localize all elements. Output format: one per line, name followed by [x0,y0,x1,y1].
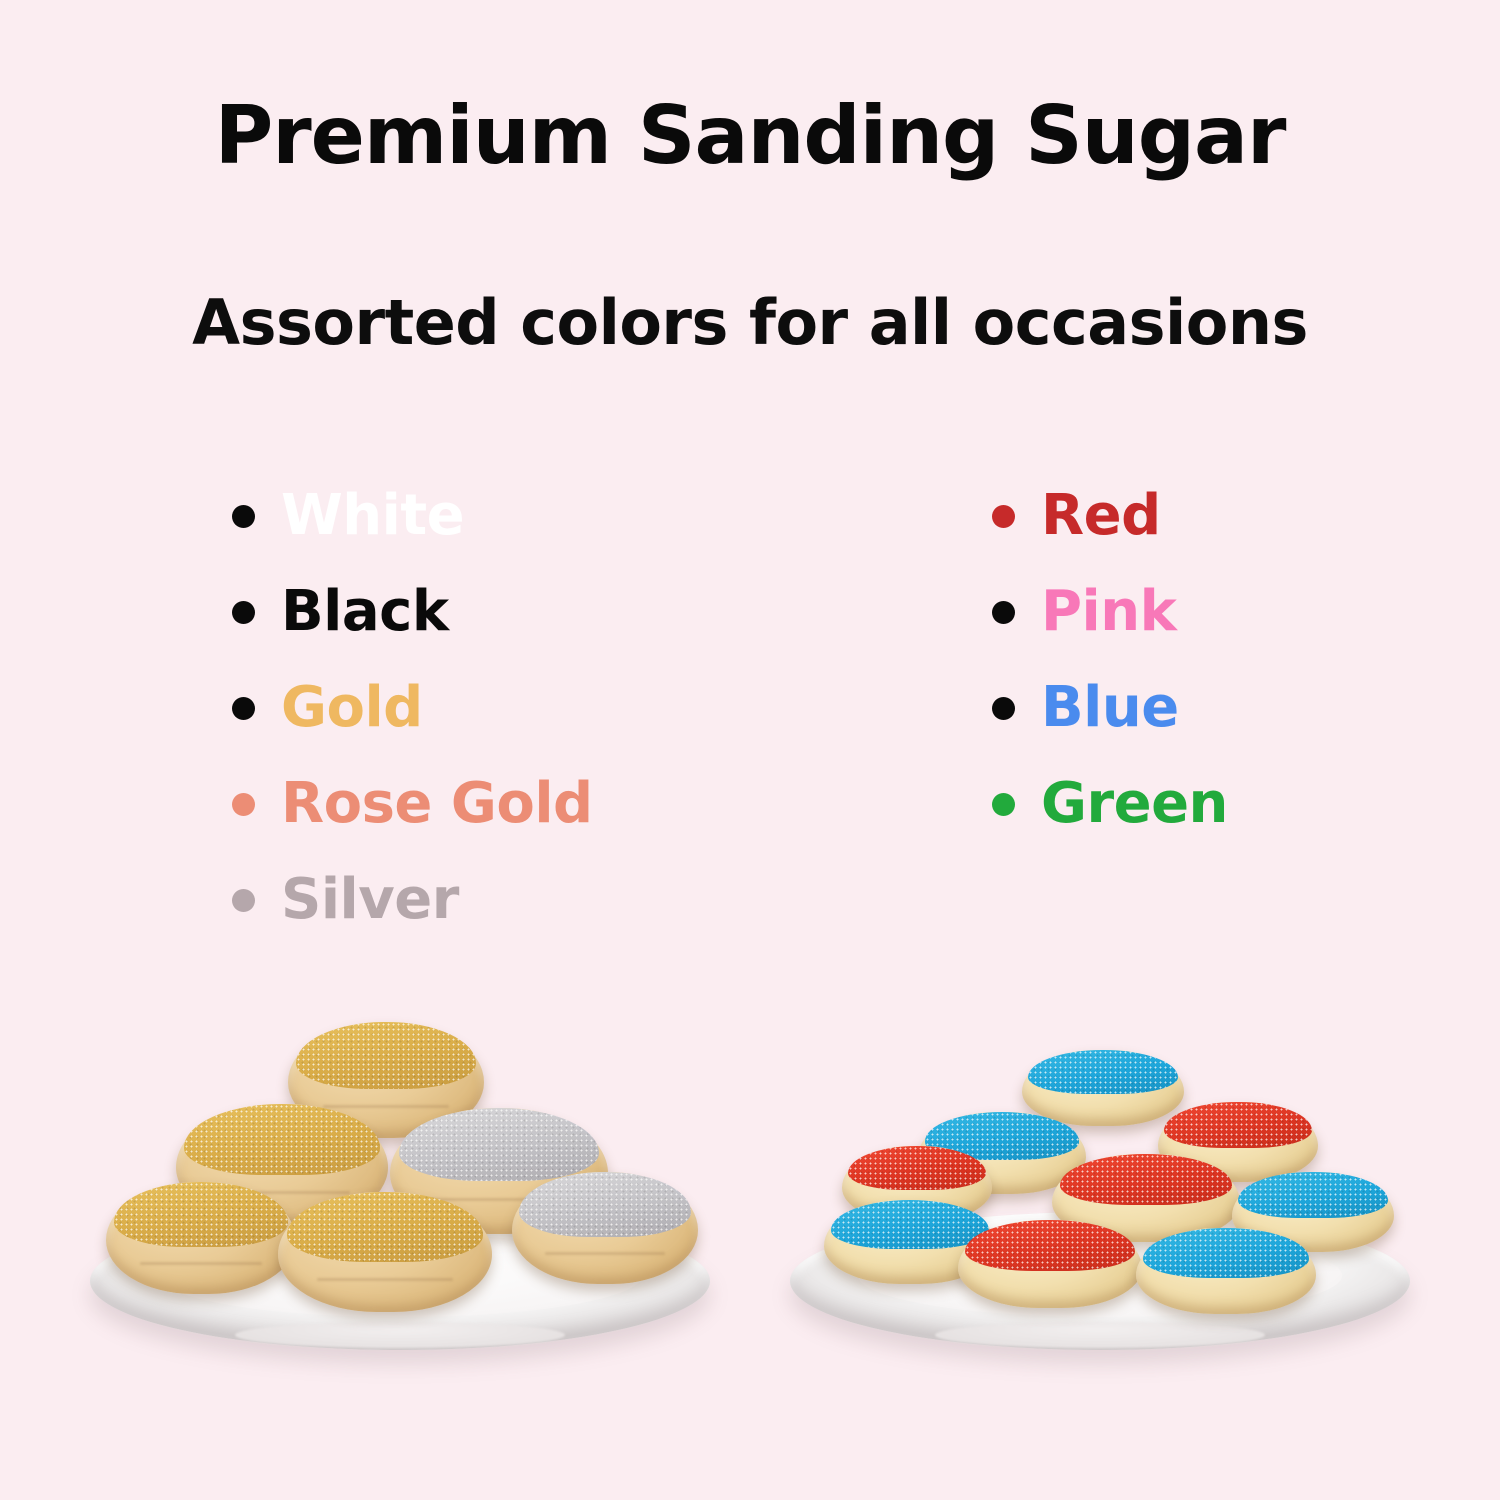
list-item: Black [232,564,593,660]
bullet-icon [232,601,255,624]
color-options-list: White Black Gold Rose Gold Silver Red Pi… [0,468,1500,938]
list-item: Blue [992,660,1228,756]
color-list-right-column: Red Pink Blue Green [992,468,1228,852]
photo-red-blue-cookies [760,990,1440,1390]
color-label-blue: Blue [1041,680,1179,736]
bullet-icon [992,697,1015,720]
color-label-pink: Pink [1041,584,1176,640]
cookie [278,1192,492,1312]
list-item: Pink [992,564,1228,660]
cookie [958,1220,1142,1308]
color-label-green: Green [1041,776,1228,832]
bullet-icon [992,505,1015,528]
cookie [1136,1228,1316,1314]
sanding-sugar-gold [296,1022,476,1089]
cookie [512,1172,698,1284]
bullet-icon [232,697,255,720]
color-list-left-column: White Black Gold Rose Gold Silver [232,468,593,948]
cookie [1022,1050,1184,1126]
sanding-sugar-blue [1238,1172,1387,1218]
sanding-sugar-blue [1028,1050,1177,1094]
list-item: Gold [232,660,593,756]
color-label-rose-gold: Rose Gold [281,776,593,832]
list-item: White [232,468,593,564]
list-item: Rose Gold [232,756,593,852]
cookie [106,1182,296,1294]
color-label-black: Black [281,584,449,640]
color-label-silver: Silver [281,872,459,928]
list-item: Green [992,756,1228,852]
bullet-icon [232,889,255,912]
list-item: Red [992,468,1228,564]
page-title: Premium Sanding Sugar [0,96,1500,176]
bullet-icon [992,793,1015,816]
photo-gold-silver-cookies [60,990,740,1390]
color-label-red: Red [1041,488,1161,544]
color-label-gold: Gold [281,680,423,736]
bullet-icon [232,505,255,528]
list-item: Silver [232,852,593,948]
page-subtitle: Assorted colors for all occasions [0,292,1500,354]
bullet-icon [232,793,255,816]
color-label-white: White [281,488,464,544]
product-photos [0,990,1500,1390]
bullet-icon [992,601,1015,624]
sanding-sugar-red [1164,1102,1311,1148]
